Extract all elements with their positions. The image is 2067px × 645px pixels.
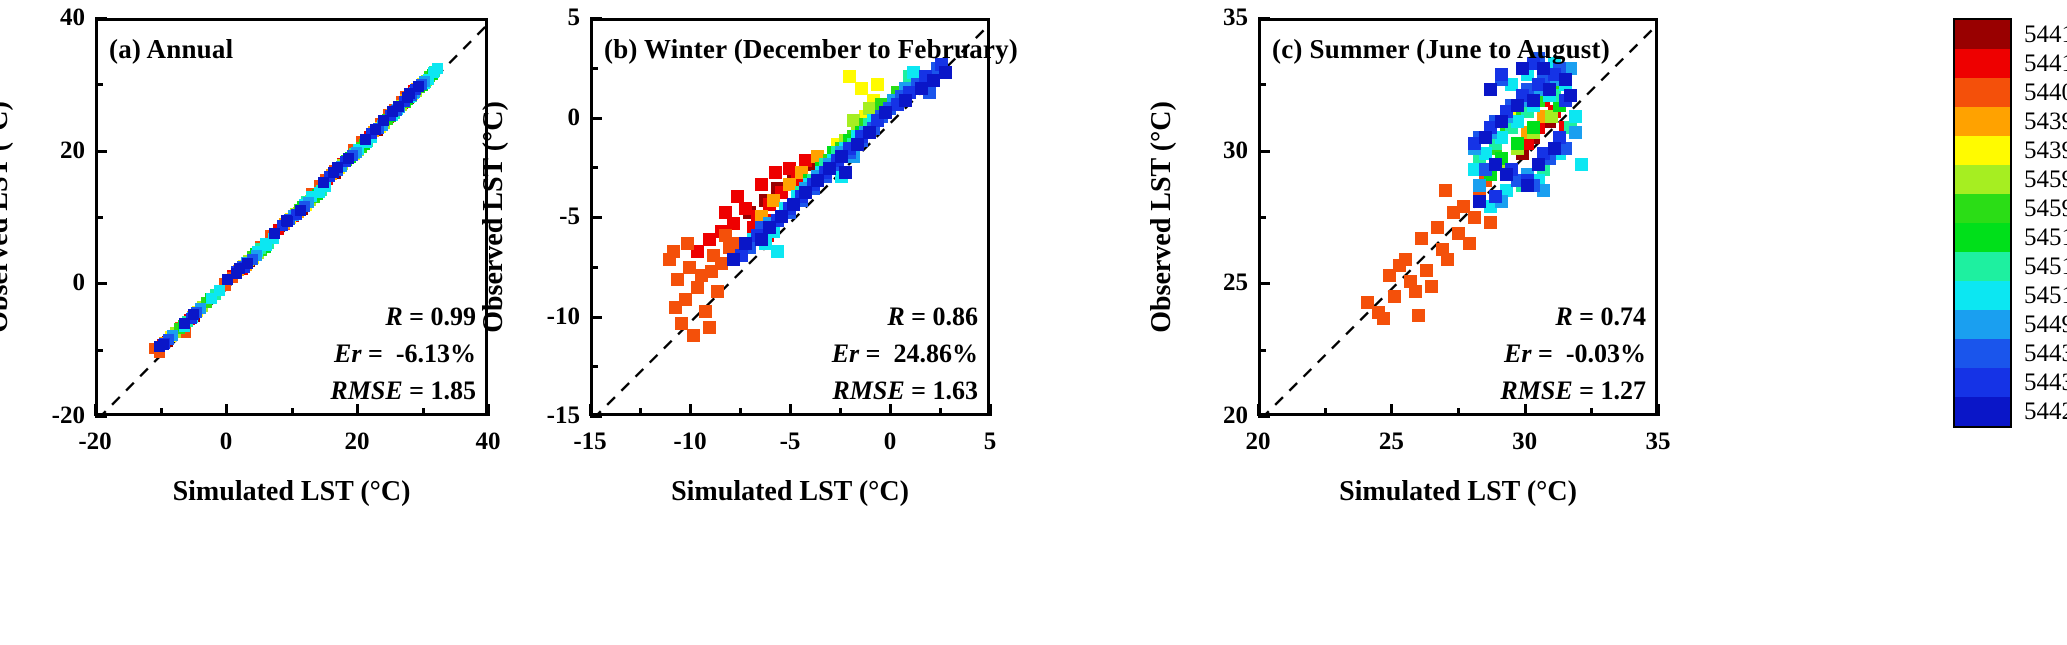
legend-label: 54499 (2024, 311, 2067, 339)
legend-label: 54424 (2024, 398, 2067, 426)
legend-label: 54431 (2024, 369, 2067, 397)
legend-label: 54433 (2024, 340, 2067, 368)
legend-swatch (1955, 223, 2010, 252)
legend-label: 54398 (2024, 137, 2067, 165)
legend-label: 54419 (2024, 21, 2067, 49)
legend-swatch (1955, 20, 2010, 49)
legend-label: 54406 (2024, 79, 2067, 107)
legend-label: 54399 (2024, 108, 2067, 136)
legend-label: 54511 (2024, 282, 2067, 310)
legend-swatch (1955, 49, 2010, 78)
legend-swatch (1955, 368, 2010, 397)
legend-label: 54416 (2024, 50, 2067, 78)
legend-swatch (1955, 397, 2010, 426)
legend-swatch (1955, 339, 2010, 368)
legend-swatch (1955, 281, 2010, 310)
legend-label: 54596 (2024, 166, 2067, 194)
legend-label: 54514 (2024, 224, 2067, 252)
legend-swatch (1955, 107, 2010, 136)
legend-swatch (1955, 165, 2010, 194)
legend-label: 54594 (2024, 195, 2067, 223)
legend-swatch (1955, 194, 2010, 223)
station-legend: 5441954416544065439954398545965459454514… (0, 0, 2067, 645)
legend-label: 54513 (2024, 253, 2067, 281)
legend-swatch (1955, 310, 2010, 339)
legend-swatch (1955, 136, 2010, 165)
legend-swatch (1955, 78, 2010, 107)
figure-root: -2002040-2002040(a) AnnualSimulated LST … (0, 0, 2067, 645)
legend-swatch (1955, 252, 2010, 281)
